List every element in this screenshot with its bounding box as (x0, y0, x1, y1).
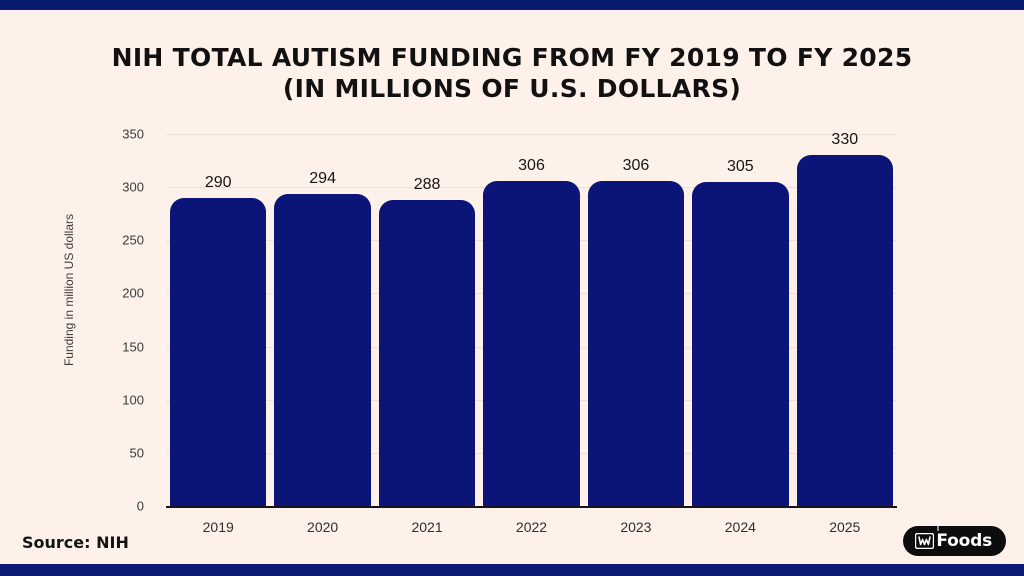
x-axis-tick-label: 2022 (483, 519, 579, 535)
x-axis-tick-label: 2025 (797, 519, 893, 535)
bar-group[interactable]: 2942020 (274, 134, 370, 506)
chart-title-line-1: NIH TOTAL AUTISM FUNDING FROM FY 2019 TO… (0, 42, 1024, 73)
bar-value-label: 306 (588, 157, 684, 175)
bar[interactable] (379, 200, 475, 506)
bar[interactable] (483, 181, 579, 506)
brand-logo-text: Foods (936, 533, 992, 550)
x-axis-tick-label: 2021 (379, 519, 475, 535)
bar-group[interactable]: 3052024 (692, 134, 788, 506)
bar-series: 2902019294202028820213062022306202330520… (166, 134, 897, 506)
bar-group[interactable]: 2882021 (379, 134, 475, 506)
plot-canvas: 2902019294202028820213062022306202330520… (166, 134, 897, 506)
bar-value-label: 306 (483, 157, 579, 175)
x-axis-tick-label: 2020 (274, 519, 370, 535)
y-axis-tick-label: 50 (84, 445, 144, 460)
bar-value-label: 330 (797, 131, 893, 149)
bar-value-label: 305 (692, 158, 788, 176)
bar-group[interactable]: 3302025 (797, 134, 893, 506)
y-axis-tick-label: 250 (84, 233, 144, 248)
bar[interactable] (797, 155, 893, 506)
y-axis-tick-label: 100 (84, 392, 144, 407)
top-accent-bar (0, 0, 1024, 10)
x-axis-line (166, 506, 897, 508)
y-axis-tick-label: 350 (84, 127, 144, 142)
bar-value-label: 288 (379, 176, 475, 194)
bottom-accent-bar (0, 564, 1024, 576)
bar-value-label: 290 (170, 174, 266, 192)
bar-group[interactable]: 3062022 (483, 134, 579, 506)
y-axis-tick-label: 0 (84, 499, 144, 514)
bar[interactable] (274, 194, 370, 506)
bar[interactable] (170, 198, 266, 506)
source-label: Source: NIH (22, 533, 129, 552)
bar-value-label: 294 (274, 170, 370, 188)
brand-logo[interactable]: Foods (903, 526, 1006, 556)
x-axis-tick-label: 2019 (170, 519, 266, 535)
w-monogram-icon (915, 533, 934, 549)
y-axis-tick-label: 150 (84, 339, 144, 354)
bar[interactable] (692, 182, 788, 506)
x-axis-tick-label: 2024 (692, 519, 788, 535)
chart-plot-area: 2902019294202028820213062022306202330520… (150, 126, 910, 501)
fork-icon (934, 518, 942, 529)
bar[interactable] (588, 181, 684, 506)
bar-group[interactable]: 2902019 (170, 134, 266, 506)
y-axis-label: Funding in million US dollars (62, 190, 76, 390)
x-axis-tick-label: 2023 (588, 519, 684, 535)
chart-title-line-2: (IN MILLIONS OF U.S. DOLLARS) (0, 73, 1024, 104)
y-axis-tick-label: 300 (84, 180, 144, 195)
chart-title: NIH TOTAL AUTISM FUNDING FROM FY 2019 TO… (0, 42, 1024, 104)
y-axis-tick-label: 200 (84, 286, 144, 301)
bar-group[interactable]: 3062023 (588, 134, 684, 506)
